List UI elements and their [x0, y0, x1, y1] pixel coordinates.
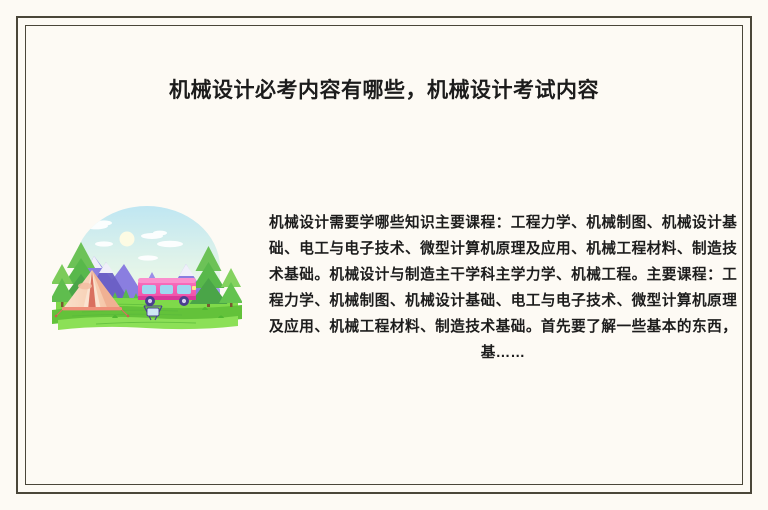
- page-title: 机械设计必考内容有哪些，机械设计考试内容: [60, 76, 708, 106]
- camping-scene-illustration: [52, 206, 242, 342]
- page-root: 机械设计必考内容有哪些，机械设计考试内容: [0, 0, 768, 510]
- article-body: 机械设计需要学哪些知识主要课程：工程力学、机械制图、机械设计基础、电工与电子技术…: [269, 210, 737, 366]
- camping-scene-svg: [52, 206, 242, 342]
- sun-icon: [120, 232, 135, 247]
